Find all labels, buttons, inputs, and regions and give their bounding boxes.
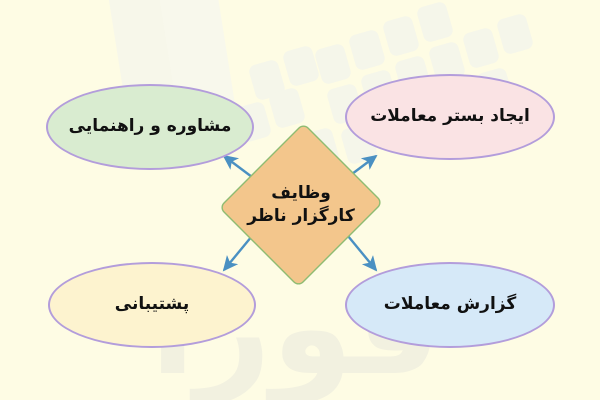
center-diamond-line1: وظایف [271, 182, 331, 205]
center-diamond-line2: کارگزار ناظر [247, 205, 354, 228]
center-diamond-text: وظایف کارگزار ناظر [221, 120, 381, 290]
center-diamond[interactable]: وظایف کارگزار ناظر [221, 120, 381, 290]
node-platform-label: ایجاد بستر معاملات [370, 106, 530, 127]
node-support-label: پشتیبانی [115, 294, 189, 315]
diagram-canvas: فورا مشاوره و راهنمایی ایجاد بستر معاملا… [0, 0, 600, 400]
node-report-label: گزارش معاملات [384, 294, 516, 315]
node-advice-label: مشاوره و راهنمایی [69, 116, 232, 137]
